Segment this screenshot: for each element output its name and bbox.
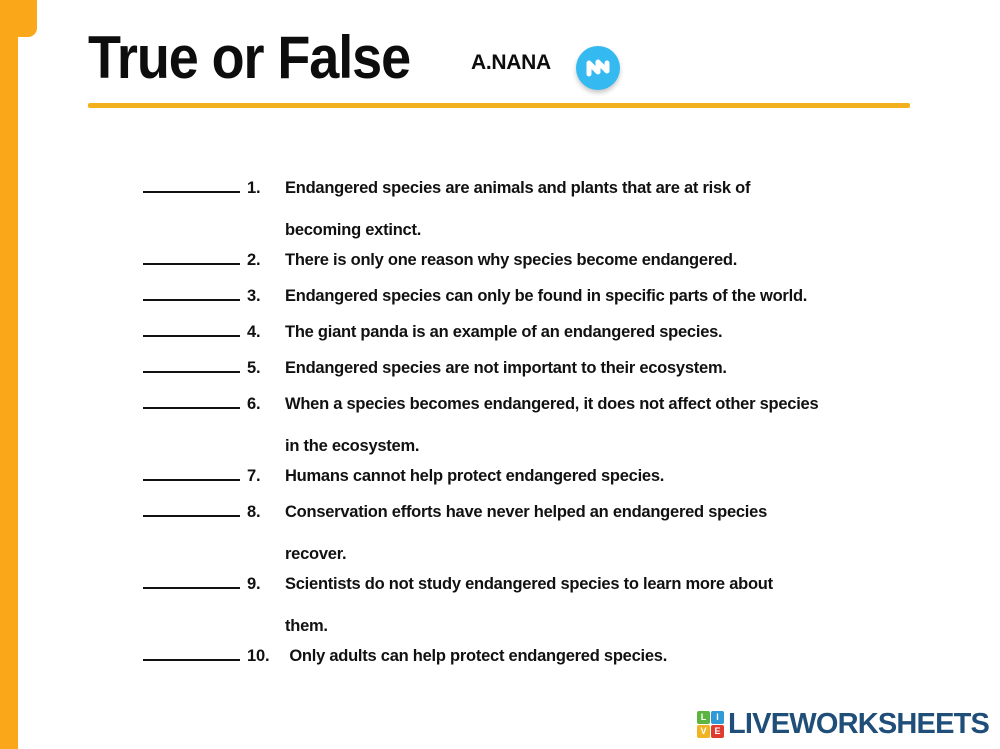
question-text: Only adults can help protect endangered … xyxy=(285,647,667,666)
question-number: 7. xyxy=(247,467,285,486)
table-row: 8. Conservation efforts have never helpe… xyxy=(143,500,933,572)
answer-blank-2[interactable] xyxy=(143,248,240,265)
answer-blank-8[interactable] xyxy=(143,500,240,517)
worksheet-header: True or False A.NANA xyxy=(88,20,918,100)
table-row: 4. The giant panda is an example of an e… xyxy=(143,320,933,356)
table-row: 6. When a species becomes endangered, it… xyxy=(143,392,933,464)
question-number: 5. xyxy=(247,359,285,378)
question-number: 2. xyxy=(247,251,285,270)
title-divider xyxy=(88,103,910,108)
question-text-cont: recover. xyxy=(143,536,933,572)
logo-wordmark: LIVEWORKSHEETS xyxy=(728,709,989,739)
answer-blank-5[interactable] xyxy=(143,356,240,373)
question-text: Conservation efforts have never helped a… xyxy=(285,503,767,522)
logo-tile-v: V xyxy=(697,725,710,738)
table-row: 7. Humans cannot help protect endangered… xyxy=(143,464,933,500)
question-text: When a species becomes endangered, it do… xyxy=(285,395,818,414)
question-number: 8. xyxy=(247,503,285,522)
answer-blank-3[interactable] xyxy=(143,284,240,301)
question-text: Scientists do not study endangered speci… xyxy=(285,575,773,594)
answer-blank-1[interactable] xyxy=(143,176,240,193)
left-accent-block xyxy=(0,0,37,37)
liveworksheets-tiles-icon: L I V E xyxy=(697,711,724,738)
liveworksheets-logo[interactable]: L I V E LIVEWORKSHEETS xyxy=(697,709,989,739)
nana-logo-icon xyxy=(576,46,620,90)
question-number: 10. xyxy=(247,647,285,666)
question-number: 9. xyxy=(247,575,285,594)
author-label: A.NANA xyxy=(471,51,551,75)
table-row: 5. Endangered species are not important … xyxy=(143,356,933,392)
table-row: 10. Only adults can help protect endange… xyxy=(143,644,933,680)
table-row: 1. Endangered species are animals and pl… xyxy=(143,176,933,248)
question-text: Endangered species can only be found in … xyxy=(285,287,807,306)
question-text: The giant panda is an example of an enda… xyxy=(285,323,722,342)
answer-blank-9[interactable] xyxy=(143,572,240,589)
question-number: 1. xyxy=(247,179,285,198)
answer-blank-6[interactable] xyxy=(143,392,240,409)
page-title: True or False xyxy=(88,22,410,94)
logo-tile-e: E xyxy=(711,725,724,738)
question-text-cont: them. xyxy=(143,608,933,644)
table-row: 3. Endangered species can only be found … xyxy=(143,284,933,320)
question-text-cont: becoming extinct. xyxy=(143,212,933,248)
left-accent-strip xyxy=(0,0,18,749)
answer-blank-4[interactable] xyxy=(143,320,240,337)
question-number: 4. xyxy=(247,323,285,342)
question-number: 6. xyxy=(247,395,285,414)
question-text-cont: in the ecosystem. xyxy=(143,428,933,464)
answer-blank-7[interactable] xyxy=(143,464,240,481)
table-row: 9. Scientists do not study endangered sp… xyxy=(143,572,933,644)
logo-tile-i: I xyxy=(711,711,724,724)
question-text: There is only one reason why species bec… xyxy=(285,251,737,270)
question-text: Endangered species are animals and plant… xyxy=(285,179,750,198)
table-row: 2. There is only one reason why species … xyxy=(143,248,933,284)
answer-blank-10[interactable] xyxy=(143,644,240,661)
logo-tile-l: L xyxy=(697,711,710,724)
question-text: Endangered species are not important to … xyxy=(285,359,727,378)
question-number: 3. xyxy=(247,287,285,306)
question-list: 1. Endangered species are animals and pl… xyxy=(143,176,933,680)
question-text: Humans cannot help protect endangered sp… xyxy=(285,467,664,486)
